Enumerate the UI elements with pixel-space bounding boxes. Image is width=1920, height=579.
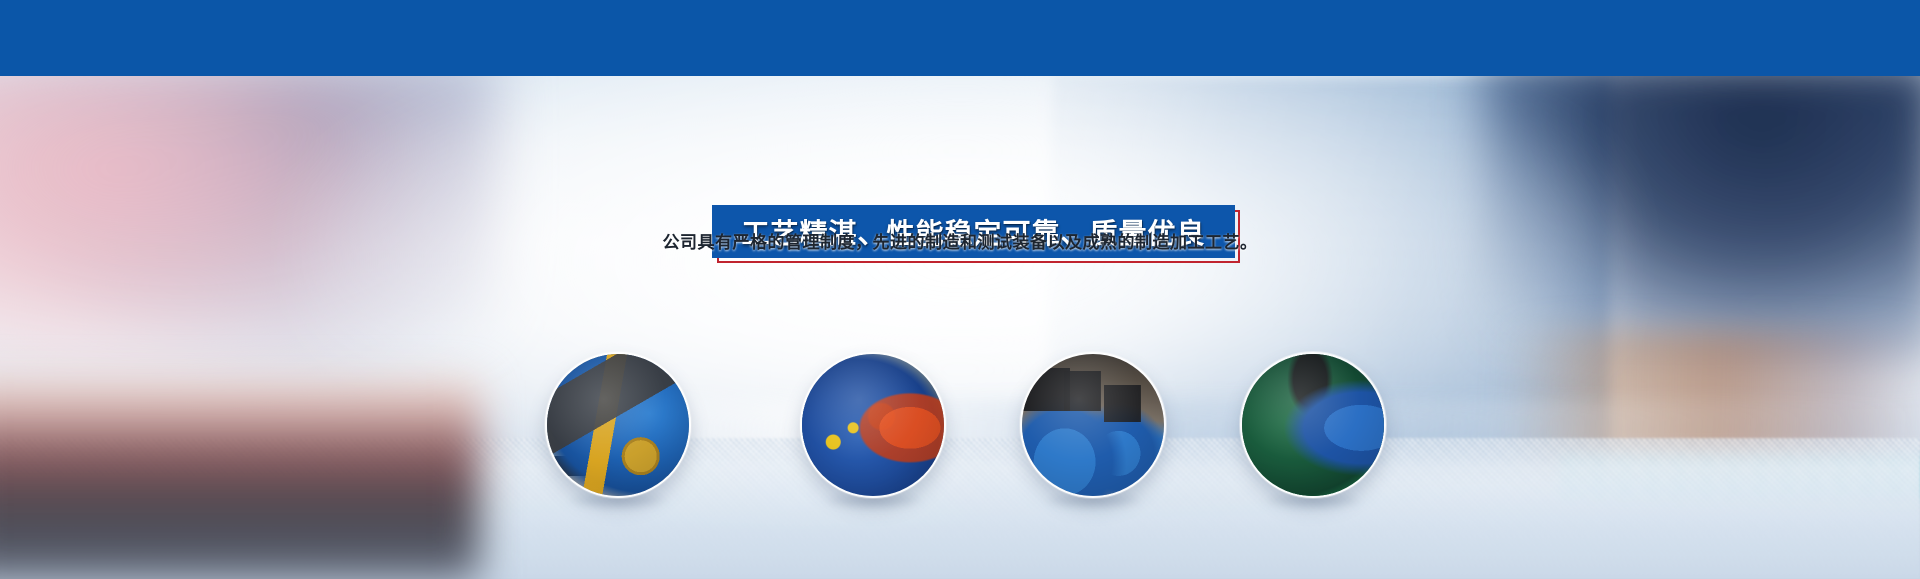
product-photo-gallery <box>0 0 1920 579</box>
product-photo-split-case-pump[interactable] <box>545 352 691 498</box>
diesel-engine-pump-image <box>1242 354 1384 496</box>
slurry-pump-row-image <box>802 354 944 496</box>
product-photo-diesel-engine-pump[interactable] <box>1240 352 1386 498</box>
product-photo-slurry-pump-row[interactable] <box>800 352 946 498</box>
split-case-pump-image <box>547 354 689 496</box>
hero-banner: 工艺精湛、性能稳定可靠、质量优良 公司具有严格的管理制度，先进的制造和测试装备以… <box>0 0 1920 579</box>
product-photo-vertical-inline-pump[interactable] <box>1020 352 1166 498</box>
subheadline-text: 公司具有严格的管理制度，先进的制造和测试装备以及成熟的制造加工工艺。 <box>0 228 1920 253</box>
vertical-inline-pump-image <box>1022 354 1164 496</box>
top-navigation-bar <box>0 0 1920 76</box>
